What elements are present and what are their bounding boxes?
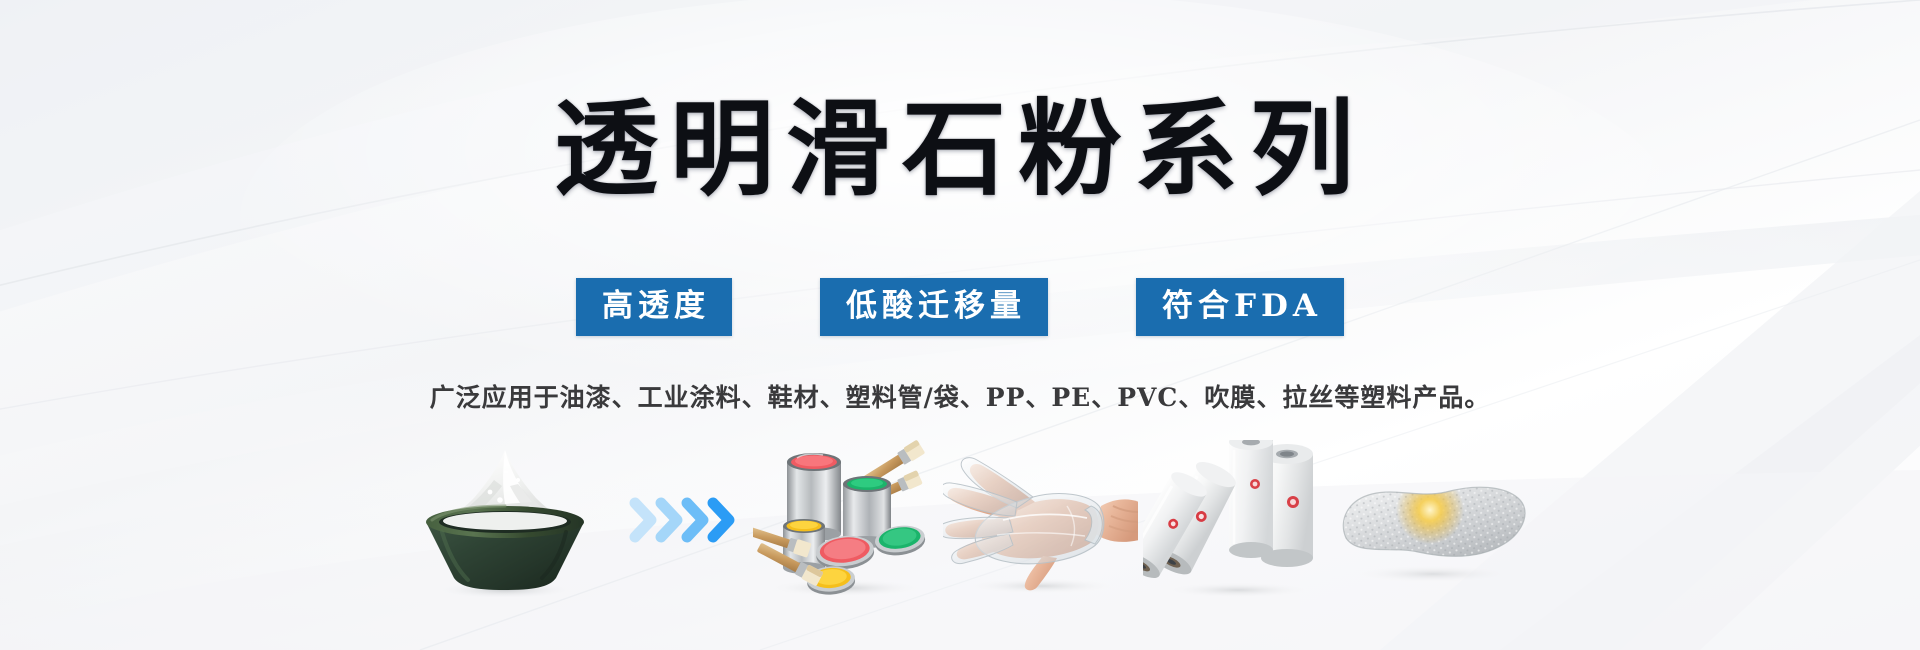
film-rolls: [1140, 440, 1335, 600]
process-arrows: [620, 440, 750, 600]
shoe-sole: [1335, 440, 1530, 600]
feature-badge-list: 高透度 低酸迁移量 符合FDA: [0, 278, 1920, 336]
subtitle-applications: 广泛应用于油漆、工业涂料、鞋材、塑料管/袋、PP、PE、PVC、吹膜、拉丝等塑料…: [0, 378, 1920, 414]
paint-cans-and-brushes-icon: [753, 440, 938, 600]
product-banner: 透明滑石粉系列 高透度 低酸迁移量 符合FDA 广泛应用于油漆、工业涂料、鞋材、…: [0, 0, 1920, 650]
plastic-film-rolls-icon: [1143, 440, 1333, 600]
paint-cans: [750, 440, 940, 600]
title-container: 透明滑石粉系列: [0, 88, 1920, 211]
chevron-right-arrows-icon: [625, 485, 745, 555]
badge-fda-compliant[interactable]: 符合FDA: [1136, 278, 1344, 336]
shoe-sole-icon: [1338, 440, 1528, 600]
talc-powder-bowl: [390, 440, 620, 600]
page-title: 透明滑石粉系列: [554, 88, 1366, 211]
hand-wearing-plastic-glove-icon: [943, 440, 1138, 600]
badge-high-transparency[interactable]: 高透度: [576, 278, 732, 336]
plastic-glove: [940, 440, 1140, 600]
bowl-of-white-powder-icon: [390, 440, 620, 600]
badge-low-acid-migration[interactable]: 低酸迁移量: [820, 278, 1048, 336]
product-application-strip: [0, 440, 1920, 600]
